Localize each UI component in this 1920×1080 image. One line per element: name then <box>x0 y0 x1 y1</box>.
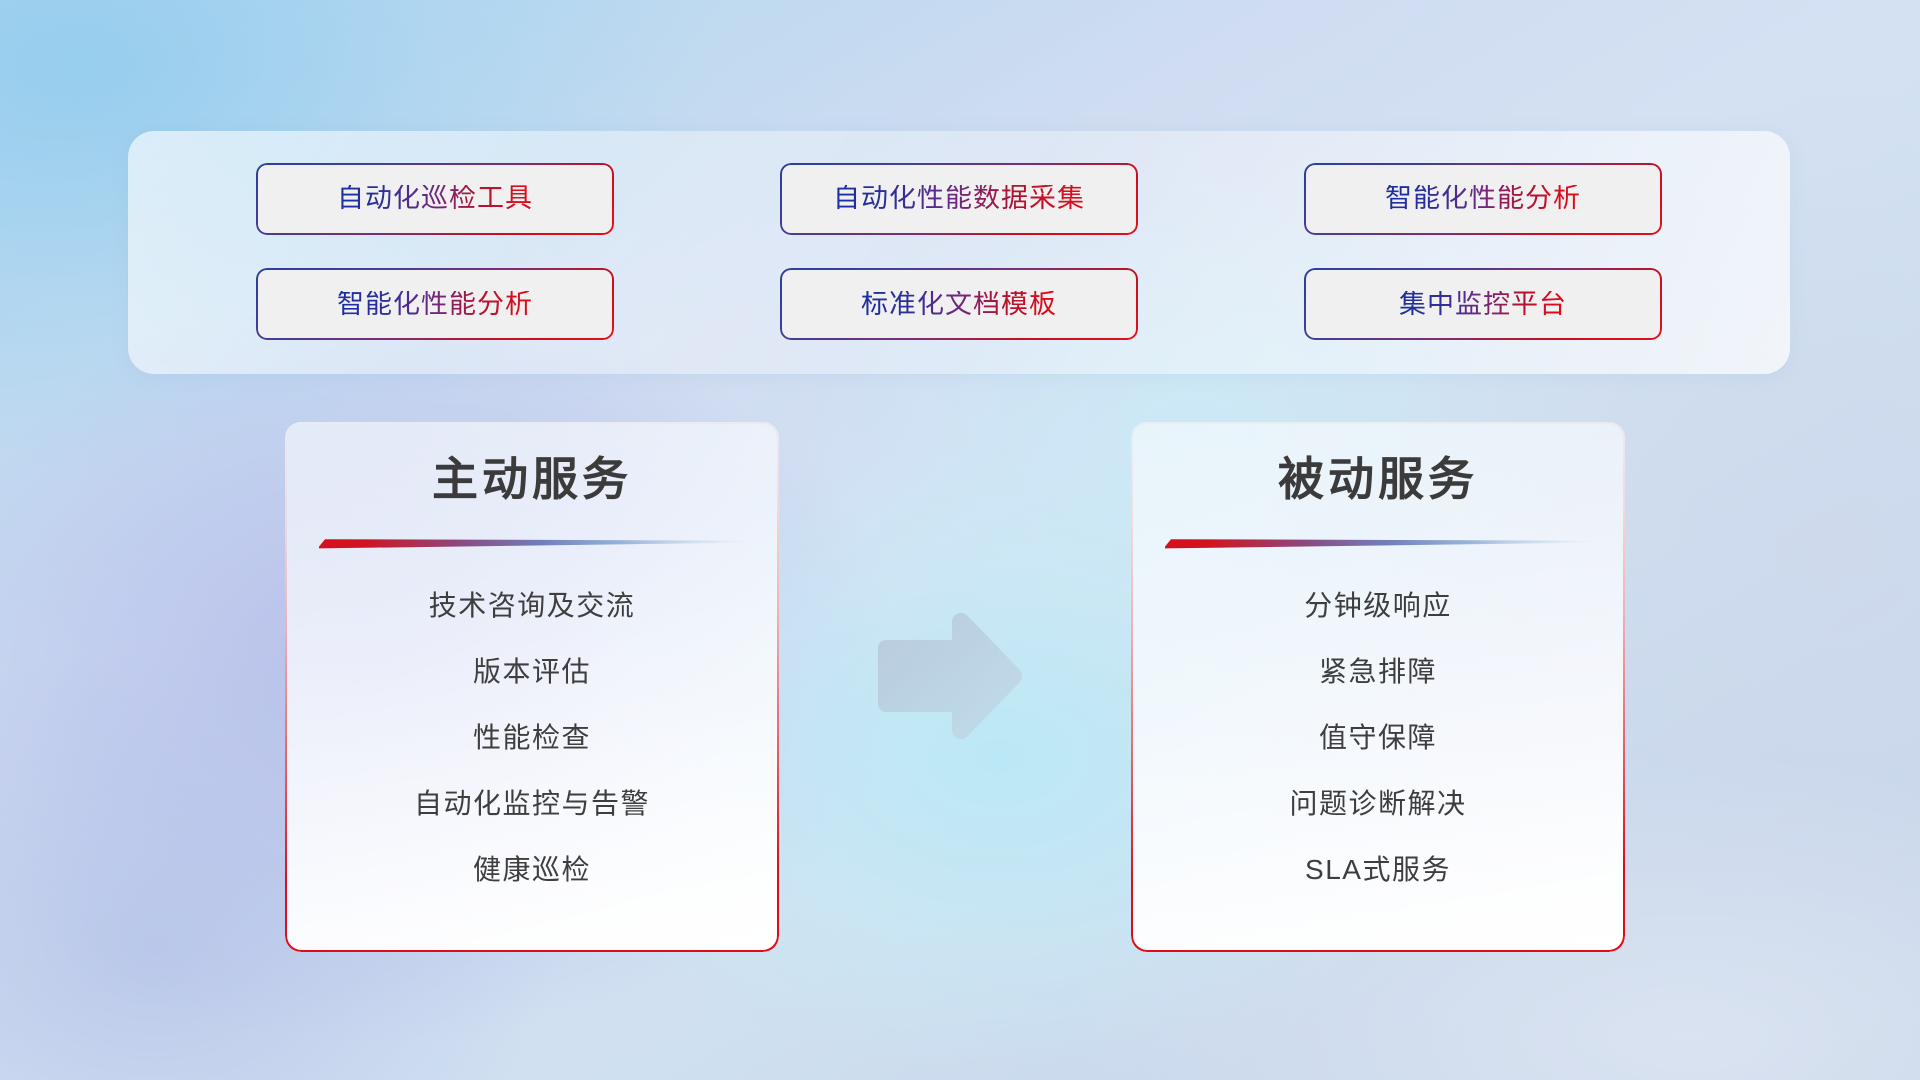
card-list-item: 健康巡检 <box>473 856 591 884</box>
capability-tag-label: 智能化性能分析 <box>1385 185 1581 212</box>
card-item-list: 分钟级响应 紧急排障 值守保障 问题诊断解决 SLA式服务 <box>1131 572 1625 884</box>
capability-tag[interactable]: 智能化性能分析 <box>256 268 614 340</box>
card-list-item: SLA式服务 <box>1305 856 1451 884</box>
card-list-item: 版本评估 <box>473 658 591 686</box>
capability-tag-label: 自动化巡检工具 <box>337 185 533 212</box>
card-list-item: 性能检查 <box>473 724 591 752</box>
capability-tag-label: 智能化性能分析 <box>337 291 533 318</box>
capability-tag-grid: 自动化巡检工具 自动化性能数据采集 智能化性能分析 智能化性能分析 标准化文档模… <box>128 131 1790 374</box>
service-card-active[interactable]: 主动服务 技术咨询及交流 版本评估 性能检查 自动化监控与告警 健康巡检 <box>285 422 779 952</box>
capability-tag-label: 集中监控平台 <box>1399 291 1567 318</box>
slide-canvas: 自动化巡检工具 自动化性能数据采集 智能化性能分析 智能化性能分析 标准化文档模… <box>0 0 1920 1080</box>
arrow-right-icon <box>868 612 1028 740</box>
capability-tag-label: 标准化文档模板 <box>861 291 1057 318</box>
card-divider-icon <box>319 534 749 550</box>
capability-tag[interactable]: 集中监控平台 <box>1304 268 1662 340</box>
card-list-item: 值守保障 <box>1319 724 1437 752</box>
card-title: 主动服务 <box>285 456 779 502</box>
card-item-list: 技术咨询及交流 版本评估 性能检查 自动化监控与告警 健康巡检 <box>285 572 779 884</box>
service-card-passive[interactable]: 被动服务 分钟级响应 紧急排障 值守保障 问题诊断解决 SLA式服务 <box>1131 422 1625 952</box>
card-title: 被动服务 <box>1131 456 1625 502</box>
capability-tag[interactable]: 自动化性能数据采集 <box>780 163 1138 235</box>
card-list-item: 问题诊断解决 <box>1289 790 1466 818</box>
card-divider-icon <box>1165 534 1595 550</box>
card-list-item: 紧急排障 <box>1319 658 1437 686</box>
capability-tag[interactable]: 自动化巡检工具 <box>256 163 614 235</box>
capability-tag-label: 自动化性能数据采集 <box>833 185 1085 212</box>
card-list-item: 技术咨询及交流 <box>429 592 636 620</box>
capability-panel: 自动化巡检工具 自动化性能数据采集 智能化性能分析 智能化性能分析 标准化文档模… <box>128 131 1790 374</box>
card-list-item: 自动化监控与告警 <box>414 790 650 818</box>
capability-tag[interactable]: 标准化文档模板 <box>780 268 1138 340</box>
card-list-item: 分钟级响应 <box>1304 592 1452 620</box>
capability-tag[interactable]: 智能化性能分析 <box>1304 163 1662 235</box>
